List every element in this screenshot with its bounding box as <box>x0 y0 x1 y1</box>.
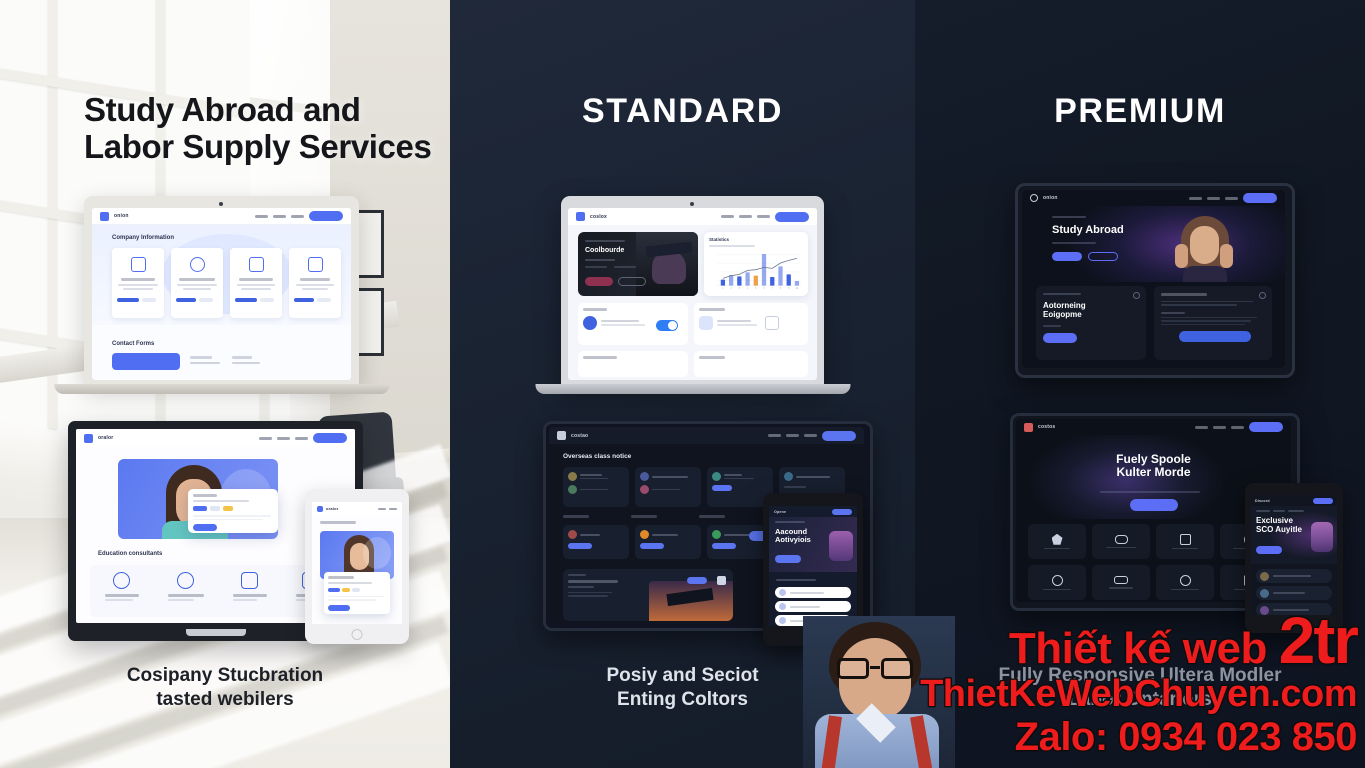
panel-standard-heading: STANDARD <box>450 92 915 131</box>
logo-icon <box>1030 194 1038 202</box>
nav-link[interactable] <box>1195 426 1208 429</box>
ad-website[interactable]: ThietKeWebChuyen.com <box>920 673 1357 716</box>
site-logo: oralor <box>326 506 339 511</box>
nav-link[interactable] <box>277 437 290 440</box>
feature-card[interactable] <box>694 303 808 345</box>
nav-link[interactable] <box>786 434 799 437</box>
nav-cta-button[interactable] <box>1243 193 1277 203</box>
form-title: Contact Forms <box>112 341 154 347</box>
service-tile[interactable] <box>1156 565 1214 600</box>
graduation-icon <box>113 572 130 589</box>
section-title: Overseas class notice <box>563 453 631 460</box>
svg-text:9: 9 <box>788 288 790 290</box>
tablet-hero: Aacound Aotivyiois <box>769 517 857 572</box>
nav-cta-button[interactable] <box>822 431 856 441</box>
group-label <box>699 515 725 518</box>
list-item[interactable] <box>1256 569 1332 583</box>
section-title: Company Information <box>112 235 174 241</box>
nav-link[interactable] <box>721 215 734 218</box>
nav-link[interactable] <box>1213 426 1226 429</box>
svg-text:5: 5 <box>755 288 757 290</box>
nav-cta-button[interactable] <box>309 211 343 221</box>
tablet-screen: oralor <box>312 502 402 624</box>
panel-left-caption: Cosipany Stucbration tasted webilers <box>0 664 450 713</box>
list-item[interactable] <box>775 601 851 612</box>
nav-link[interactable] <box>291 215 304 218</box>
list-item[interactable] <box>1256 586 1332 600</box>
card-title-1: Aotorneing <box>1043 301 1086 310</box>
volume-icon <box>1052 575 1063 586</box>
service-tile[interactable] <box>1028 565 1086 600</box>
panel-premium-heading: PREMIUM <box>915 92 1365 131</box>
panel-left-heading: Study Abroad and Labor Supply Services <box>84 92 431 166</box>
tablet-screen-dark: Opene Aacound Aotivyiois <box>769 506 857 626</box>
ad-phone[interactable]: Zalo: 0934 023 850 <box>920 715 1357 760</box>
feature-item[interactable] <box>168 572 204 617</box>
nav-link[interactable] <box>804 434 817 437</box>
lock-icon <box>583 316 597 330</box>
desktop-icon <box>308 257 323 272</box>
svg-text:2: 2 <box>730 288 732 290</box>
nav-link[interactable] <box>378 508 386 510</box>
heading-line-2: Labor Supply Services <box>84 129 431 166</box>
arrow-icon[interactable] <box>1133 292 1140 299</box>
service-tile[interactable] <box>1028 524 1086 559</box>
tablet-cta-button[interactable] <box>832 509 852 515</box>
group-label <box>631 515 657 518</box>
tablet-title-1: Exclusive <box>1256 516 1293 525</box>
svg-text:7: 7 <box>772 288 774 290</box>
nav-link[interactable] <box>739 215 752 218</box>
ad-price: 2tr <box>1279 603 1357 677</box>
advertisement-overlay: Thiết kế web 2tr ThietKeWebChuyen.com Za… <box>920 607 1357 760</box>
hero-primary-button[interactable] <box>1052 252 1082 261</box>
info-card[interactable] <box>289 248 341 318</box>
card-title-2: Eoigopme <box>1043 310 1082 319</box>
feature-card-left[interactable]: Aotorneing Eoigopme <box>1036 286 1146 360</box>
nav-link[interactable] <box>768 434 781 437</box>
tablet-title-2: Aotivyiois <box>775 535 811 544</box>
heading-line-1: Study Abroad and <box>84 91 361 128</box>
hero-secondary-button[interactable] <box>618 277 646 286</box>
tablet-hero-button[interactable] <box>775 555 801 563</box>
nav-link[interactable] <box>757 215 770 218</box>
nav-link[interactable] <box>259 437 272 440</box>
service-tile[interactable] <box>1156 524 1214 559</box>
vr-icon <box>1115 535 1128 544</box>
svg-text:3: 3 <box>739 288 741 290</box>
form-submit-button[interactable] <box>112 353 180 370</box>
briefcase-icon <box>249 257 264 272</box>
card-cta-button[interactable] <box>1043 333 1077 343</box>
ad-headline-text: Thiết kế web <box>1009 624 1267 673</box>
globe-icon <box>177 572 194 589</box>
svg-text:10: 10 <box>796 288 799 290</box>
device-tablet-light[interactable]: oralor <box>305 489 409 644</box>
info-card[interactable] <box>171 248 223 318</box>
caption-line-1: Cosipany Stucbration <box>127 665 323 686</box>
service-tile[interactable] <box>1092 565 1150 600</box>
tablet-hero-button[interactable] <box>1256 546 1282 554</box>
car-icon <box>1114 576 1128 584</box>
device-laptop-light[interactable]: onion Company Information <box>54 196 389 408</box>
nav-link[interactable] <box>273 215 286 218</box>
nav-link[interactable] <box>1231 426 1244 429</box>
svg-text:4: 4 <box>747 288 749 290</box>
media-card[interactable] <box>563 569 733 621</box>
nav-link[interactable] <box>1207 197 1220 200</box>
info-card[interactable] <box>230 248 282 318</box>
svg-text:6: 6 <box>763 288 765 290</box>
site-logo: coslox <box>590 214 607 220</box>
bar-chart: 12345678910 <box>709 250 803 290</box>
nav-cta-button[interactable] <box>775 212 809 222</box>
logo-icon <box>100 212 109 221</box>
tablet-title-2: SCO Auyitle <box>1256 525 1302 534</box>
directory-card[interactable] <box>563 525 629 559</box>
chart-subtitle <box>709 245 755 247</box>
mail-icon <box>241 572 258 589</box>
site-logo: onion <box>1043 195 1058 201</box>
building-icon <box>131 257 146 272</box>
nav-link[interactable] <box>1189 197 1202 200</box>
nav-link[interactable] <box>295 437 308 440</box>
hero-secondary-button[interactable] <box>1088 252 1118 261</box>
directory-card[interactable] <box>635 525 701 559</box>
feature-card-right[interactable] <box>1154 286 1272 360</box>
bookmark-icon[interactable] <box>717 576 726 585</box>
hero-card-graduation[interactable]: Coolbourde <box>578 232 698 296</box>
info-card[interactable] <box>112 248 164 318</box>
nav-link[interactable] <box>389 508 397 510</box>
arrow-icon[interactable] <box>1259 292 1266 299</box>
service-tile[interactable] <box>1092 524 1150 559</box>
site-logo: Opene <box>774 510 786 514</box>
site-logo: onion <box>114 213 129 219</box>
hero-cta-button[interactable] <box>1130 499 1178 511</box>
chart-title: Statistics <box>709 237 803 242</box>
feature-card[interactable] <box>694 351 808 377</box>
puzzle-icon <box>1052 534 1063 545</box>
shield-icon <box>699 316 713 330</box>
nav-link[interactable] <box>255 215 268 218</box>
tablet-screen-premium: Discord Exclusive SCO Auyitle <box>1251 495 1337 615</box>
site-logo: costos <box>1038 424 1055 430</box>
device-laptop-dashboard[interactable]: coslox Coolbourde <box>535 196 850 408</box>
media-cta[interactable] <box>687 577 707 584</box>
hero-title: Study Abroad <box>1052 224 1124 236</box>
nav-cta-button[interactable] <box>1249 422 1283 432</box>
feature-item[interactable] <box>233 572 267 617</box>
site-logo: Discord <box>1255 499 1270 503</box>
chart-card[interactable]: Statistics 12345678910 <box>704 232 808 296</box>
caption-line-1: Posiy and Seciot <box>606 665 758 686</box>
hero-section: Study Abroad <box>1022 206 1285 282</box>
popup-cta-button[interactable] <box>193 524 217 531</box>
card-cta-button[interactable] <box>1179 331 1251 342</box>
feature-item[interactable] <box>105 572 139 617</box>
search-icon <box>190 257 205 272</box>
nav-cta-button[interactable] <box>313 433 347 443</box>
feature-card[interactable] <box>578 351 688 377</box>
tablet-hero: Exclusive SCO Auyitle <box>1251 506 1337 564</box>
calculator-icon <box>765 316 779 330</box>
directory-card[interactable] <box>635 467 701 507</box>
smiley-icon <box>1180 575 1191 586</box>
hero-title-2: Kulter Morde <box>1116 465 1190 479</box>
night-photo <box>649 581 733 621</box>
hero-primary-button[interactable] <box>585 277 613 286</box>
svg-text:8: 8 <box>780 288 782 290</box>
list-item[interactable] <box>775 587 851 598</box>
svg-text:1: 1 <box>722 288 724 290</box>
list-title <box>776 579 816 581</box>
glasses-icon <box>837 658 913 679</box>
section-title: Education consultants <box>98 551 162 557</box>
hero-popup-card[interactable] <box>188 489 278 533</box>
laptop-screen-dashboard: coslox Coolbourde <box>568 208 817 380</box>
site-logo: costao <box>571 433 588 439</box>
device-laptop-premium[interactable]: onion Study Abroad <box>1015 183 1295 378</box>
premium-screen-study-abroad: onion Study Abroad <box>1022 190 1285 368</box>
site-logo: oralor <box>98 435 113 441</box>
group-label <box>563 515 589 518</box>
hero-image-woman <box>1173 214 1235 282</box>
laptop-screen-company-info: onion Company Information <box>92 208 351 380</box>
tablet-cta-button[interactable] <box>1313 498 1333 504</box>
hero-title: Coolbourde <box>585 247 624 254</box>
toggle-switch[interactable] <box>656 320 678 331</box>
panel-left: Study Abroad and Labor Supply Services o… <box>0 0 450 768</box>
hero-title-1: Fuely Spoole <box>1116 452 1191 466</box>
server-icon <box>1180 534 1191 545</box>
nav-link[interactable] <box>1225 197 1238 200</box>
ad-headline: Thiết kế web 2tr <box>920 607 1357 673</box>
comparison-poster: Study Abroad and Labor Supply Services o… <box>0 0 1365 768</box>
tablet-cta-button[interactable] <box>328 605 350 611</box>
home-button[interactable] <box>352 629 363 640</box>
caption-line-2: tasted webilers <box>0 688 450 712</box>
tablet-popup-card[interactable] <box>324 572 390 614</box>
directory-card[interactable] <box>563 467 629 507</box>
